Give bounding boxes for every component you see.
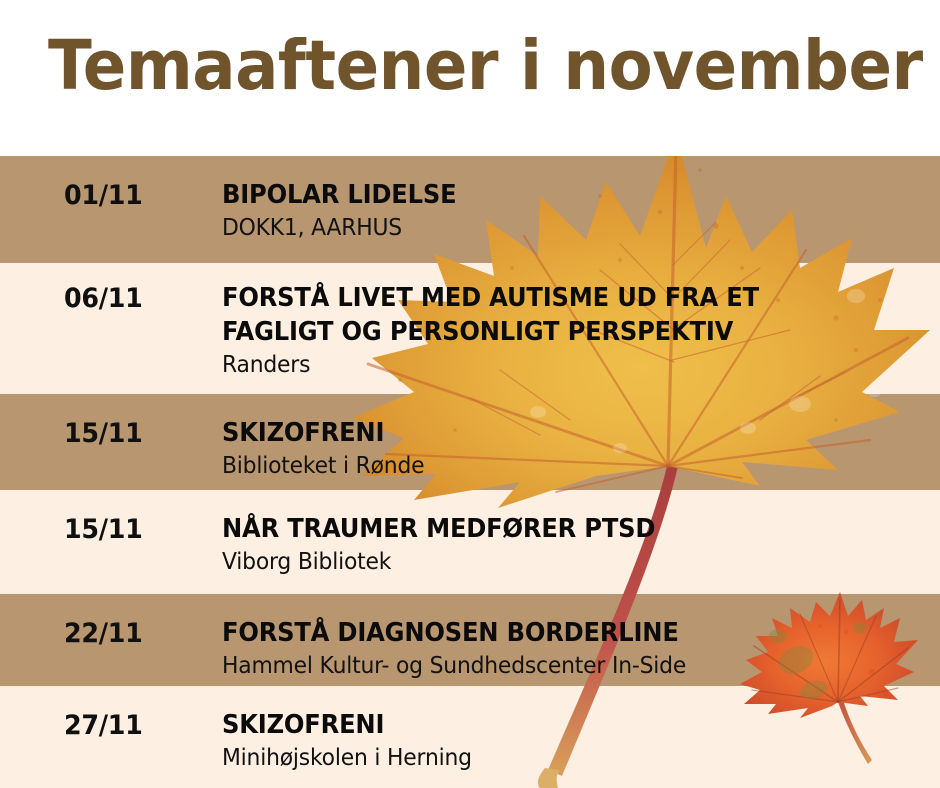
event-date: 15/11 <box>64 418 143 449</box>
event-title-line: FAGLIGT OG PERSONLIGT PERSPEKTIV <box>222 315 880 349</box>
event-title: BIPOLAR LIDELSE <box>222 178 880 212</box>
event-date: 27/11 <box>64 710 143 741</box>
poster-header: Temaaftener i november <box>0 0 940 156</box>
schedule-row[interactable]: 06/11FORSTÅ LIVET MED AUTISME UD FRA ETF… <box>0 263 940 394</box>
schedule-row[interactable]: 22/11FORSTÅ DIAGNOSEN BORDERLINEHammel K… <box>0 594 940 686</box>
schedule-row[interactable]: 15/11NÅR TRAUMER MEDFØRER PTSDViborg Bib… <box>0 490 940 594</box>
event-text-block: SKIZOFRENIMinihøjskolen i Herning <box>222 708 930 773</box>
event-title: FORSTÅ DIAGNOSEN BORDERLINE <box>222 616 880 650</box>
event-title: FORSTÅ LIVET MED AUTISME UD FRA ETFAGLIG… <box>222 281 880 349</box>
event-title-line: NÅR TRAUMER MEDFØRER PTSD <box>222 512 880 546</box>
event-title: SKIZOFRENI <box>222 708 880 742</box>
event-title-line: SKIZOFRENI <box>222 416 880 450</box>
schedule-row[interactable]: 27/11SKIZOFRENIMinihøjskolen i Herning <box>0 686 940 788</box>
poster-canvas: Temaaftener i november 01/11BIPOLAR LIDE… <box>0 0 940 788</box>
event-text-block: SKIZOFRENIBiblioteket i Rønde <box>222 416 930 481</box>
event-venue: DOKK1, AARHUS <box>222 213 895 243</box>
event-date: 06/11 <box>64 283 143 314</box>
event-title: SKIZOFRENI <box>222 416 880 450</box>
event-title-line: FORSTÅ LIVET MED AUTISME UD FRA ET <box>222 281 880 315</box>
event-title-line: SKIZOFRENI <box>222 708 880 742</box>
event-venue: Viborg Bibliotek <box>222 547 895 577</box>
schedule-row[interactable]: 15/11SKIZOFRENIBiblioteket i Rønde <box>0 394 940 490</box>
event-date: 01/11 <box>64 180 143 211</box>
event-text-block: FORSTÅ DIAGNOSEN BORDERLINEHammel Kultur… <box>222 616 930 681</box>
event-venue: Biblioteket i Rønde <box>222 451 895 481</box>
event-title-line: FORSTÅ DIAGNOSEN BORDERLINE <box>222 616 880 650</box>
event-title-line: BIPOLAR LIDELSE <box>222 178 880 212</box>
event-title: NÅR TRAUMER MEDFØRER PTSD <box>222 512 880 546</box>
page-title: Temaaftener i november <box>48 32 923 101</box>
event-venue: Randers <box>222 350 895 380</box>
event-venue: Hammel Kultur- og Sundhedscenter In-Side <box>222 651 895 681</box>
event-text-block: BIPOLAR LIDELSEDOKK1, AARHUS <box>222 178 930 243</box>
event-date: 22/11 <box>64 618 143 649</box>
event-date: 15/11 <box>64 514 143 545</box>
event-text-block: NÅR TRAUMER MEDFØRER PTSDViborg Bibliote… <box>222 512 930 577</box>
event-venue: Minihøjskolen i Herning <box>222 743 895 773</box>
schedule-row[interactable]: 01/11BIPOLAR LIDELSEDOKK1, AARHUS <box>0 156 940 263</box>
event-text-block: FORSTÅ LIVET MED AUTISME UD FRA ETFAGLIG… <box>222 281 930 380</box>
